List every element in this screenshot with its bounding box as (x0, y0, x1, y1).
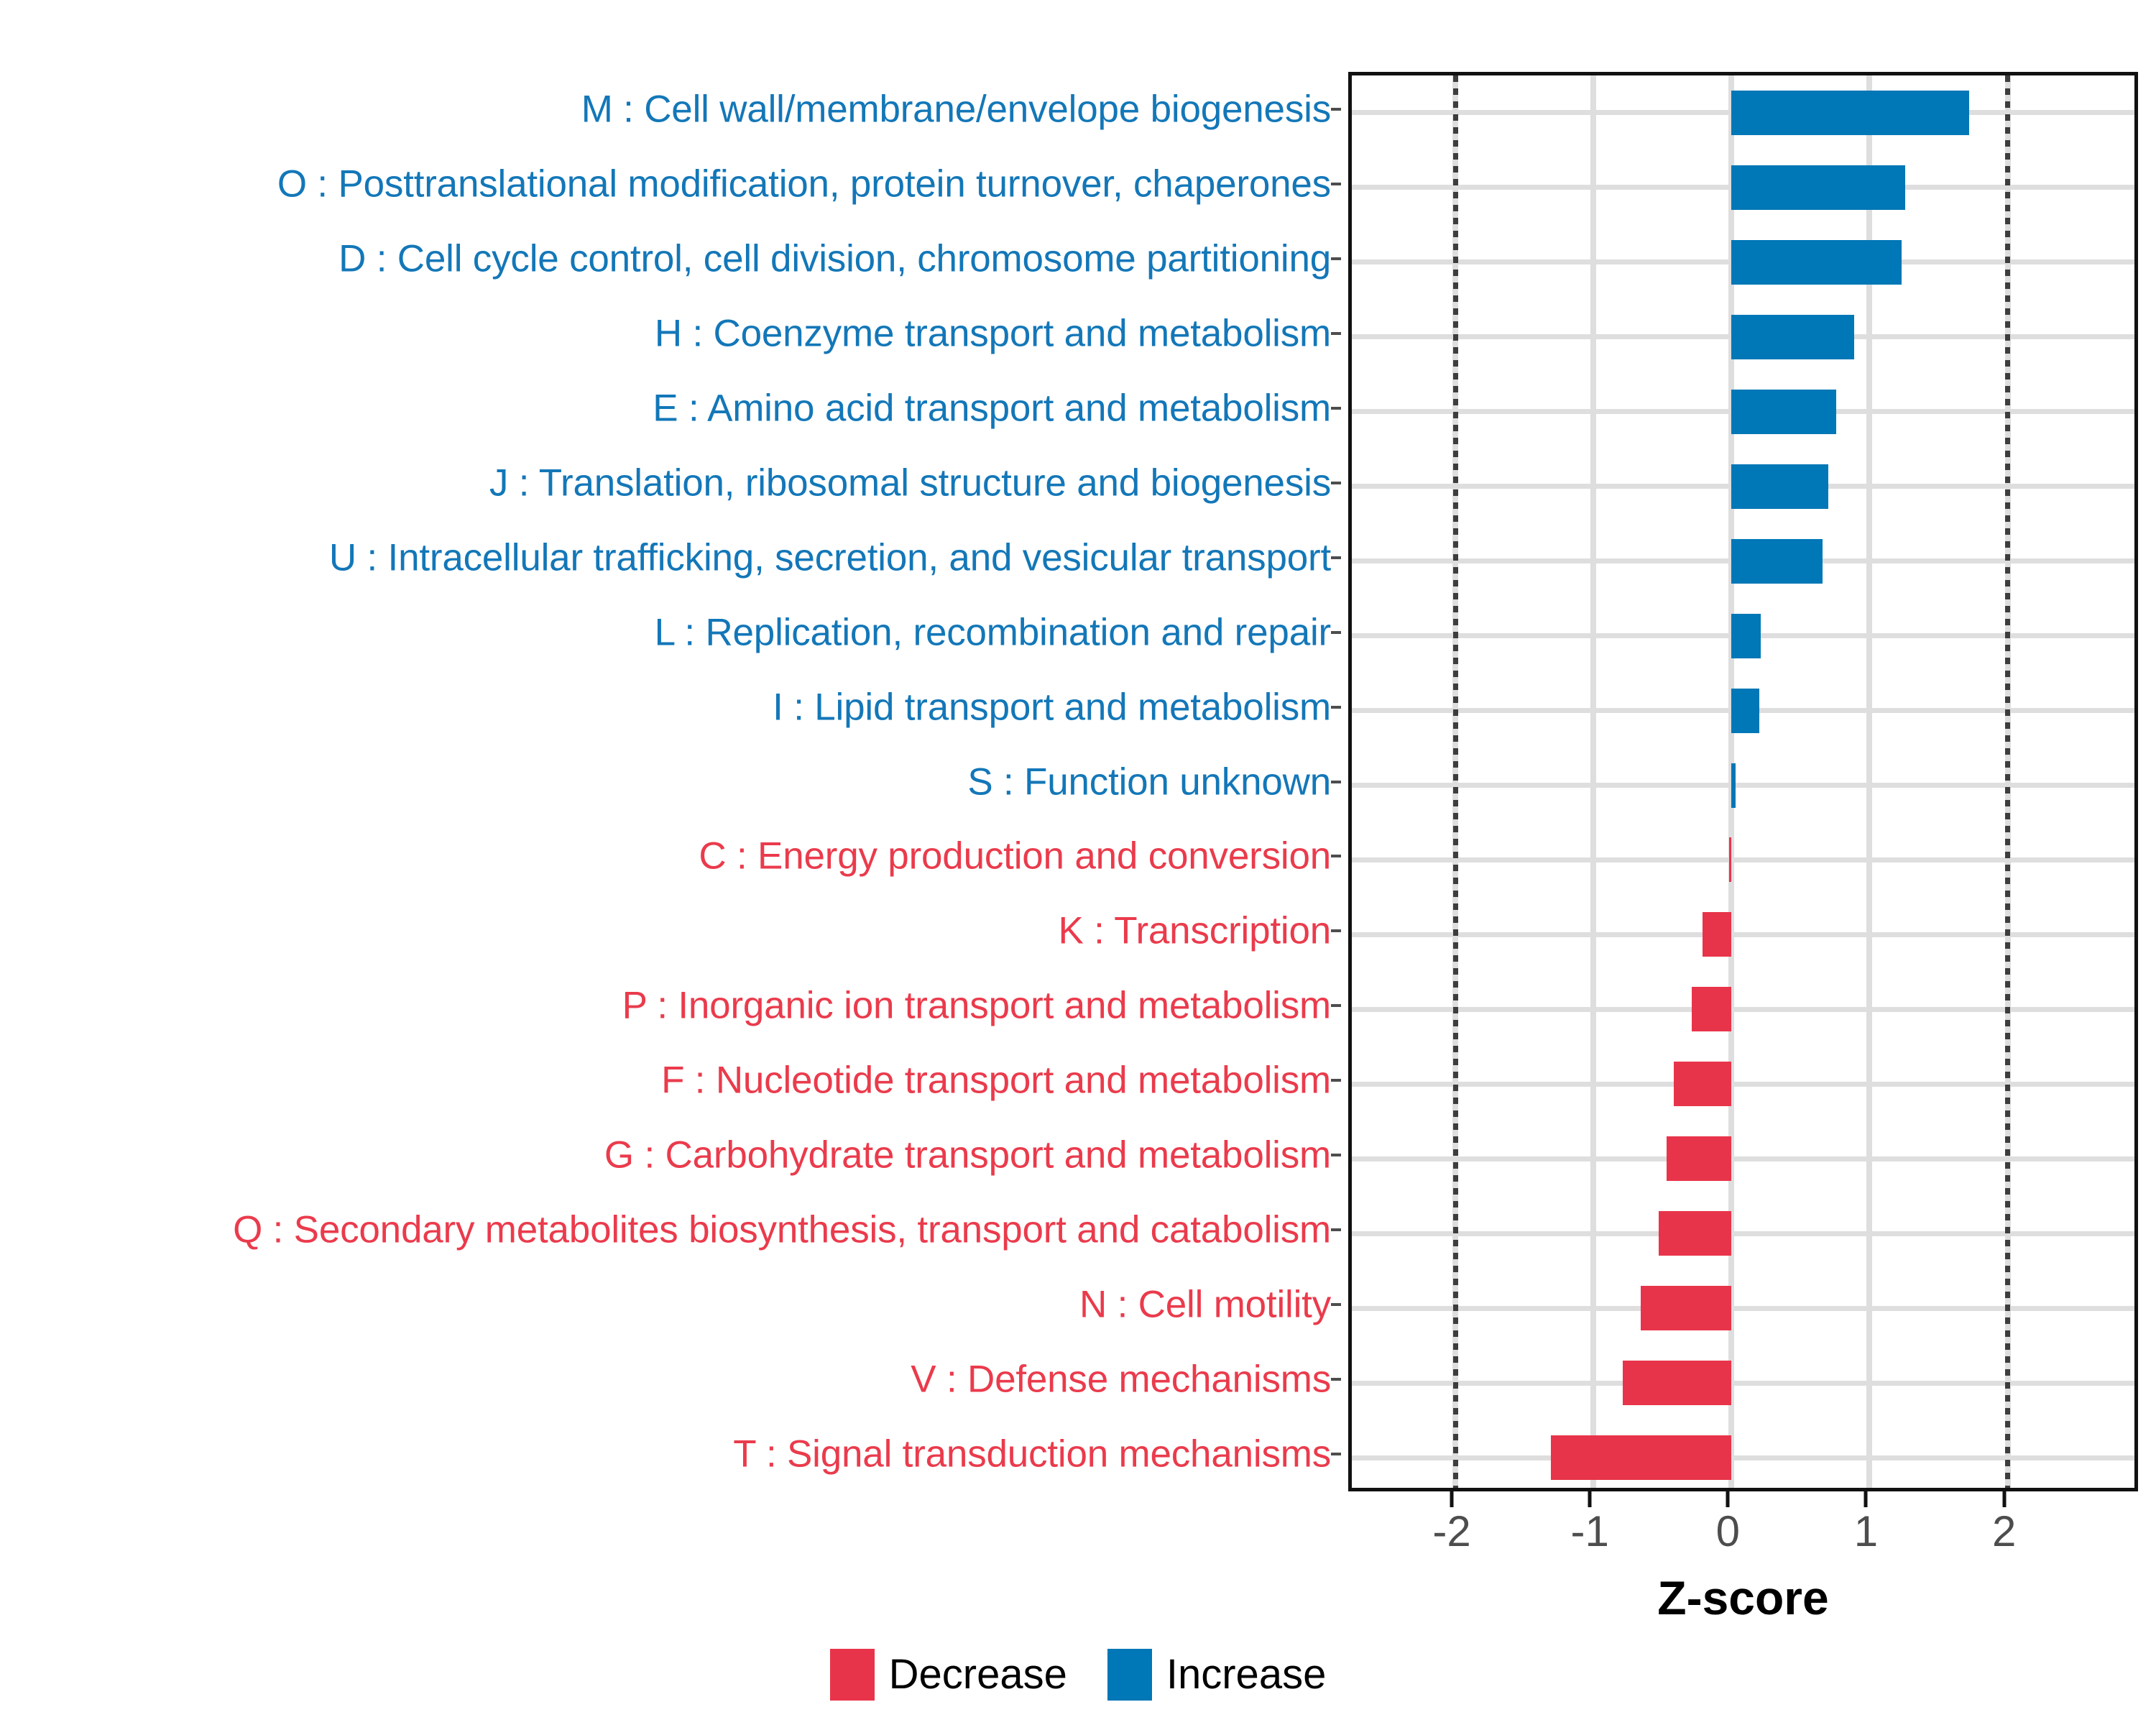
y-axis-tick (1331, 1004, 1341, 1007)
x-axis-tick-label: -2 (1432, 1510, 1470, 1553)
category-label-column: M : Cell wall/membrane/envelope biogenes… (0, 72, 1341, 1491)
horizontal-gridline (1352, 783, 2134, 788)
y-axis-tick (1331, 332, 1341, 335)
category-label: L : Replication, recombination and repai… (655, 613, 1331, 651)
y-axis-tick (1331, 855, 1341, 857)
y-axis-tick (1331, 556, 1341, 559)
horizontal-gridline (1352, 932, 2134, 937)
category-label: S : Function unknown (967, 763, 1331, 801)
bar[interactable] (1623, 1361, 1732, 1405)
y-axis-tick (1331, 929, 1341, 932)
category-label: D : Cell cycle control, cell division, c… (338, 239, 1331, 277)
bar[interactable] (1731, 91, 1968, 135)
y-axis-tick (1331, 257, 1341, 260)
chart-root: M : Cell wall/membrane/envelope biogenes… (0, 0, 2156, 1725)
chart-legend: DecreaseIncrease (0, 1642, 2156, 1707)
bar[interactable] (1674, 1062, 1732, 1106)
y-axis-tick (1331, 706, 1341, 709)
y-axis-tick (1331, 631, 1341, 634)
horizontal-gridline (1352, 1455, 2134, 1460)
category-label: V : Defense mechanisms (911, 1361, 1331, 1399)
y-axis-tick (1331, 1378, 1341, 1381)
category-label: Q : Secondary metabolites biosynthesis, … (233, 1211, 1331, 1249)
category-label: F : Nucleotide transport and metabolism (661, 1062, 1331, 1100)
horizontal-gridline (1352, 1306, 2134, 1311)
bar[interactable] (1551, 1435, 1732, 1480)
bar[interactable] (1731, 539, 1823, 584)
bar[interactable] (1731, 464, 1828, 509)
legend-swatch-icon (830, 1649, 875, 1701)
bar[interactable] (1731, 240, 1901, 285)
bar[interactable] (1703, 912, 1731, 957)
y-axis-tick (1331, 108, 1341, 111)
category-label: C : Energy production and conversion (699, 837, 1331, 875)
horizontal-gridline (1352, 1156, 2134, 1161)
bar[interactable] (1731, 689, 1759, 733)
x-axis-tick-label: -1 (1571, 1510, 1609, 1553)
y-axis-tick (1331, 407, 1341, 410)
x-axis-tick (1588, 1491, 1592, 1507)
y-axis-tick (1331, 781, 1341, 783)
y-axis-tick (1331, 1228, 1341, 1231)
bar[interactable] (1659, 1211, 1732, 1256)
y-axis-tick (1331, 1079, 1341, 1082)
y-axis-tick (1331, 1154, 1341, 1156)
x-axis-tick-label: 0 (1716, 1510, 1740, 1553)
legend-label: Decrease (889, 1654, 1067, 1696)
x-axis-tick-label: 1 (1854, 1510, 1878, 1553)
x-axis-tick (2002, 1491, 2006, 1507)
category-label: T : Signal transduction mechanisms (733, 1435, 1331, 1473)
bar[interactable] (1731, 763, 1736, 808)
category-label: N : Cell motility (1079, 1286, 1331, 1324)
bar[interactable] (1641, 1286, 1732, 1330)
horizontal-gridline (1352, 1231, 2134, 1236)
legend-item[interactable]: Decrease (830, 1649, 1067, 1701)
category-label: P : Inorganic ion transport and metaboli… (622, 987, 1331, 1025)
category-label: U : Intracellular trafficking, secretion… (329, 538, 1331, 576)
bar[interactable] (1729, 837, 1732, 882)
category-label: K : Transcription (1058, 912, 1331, 950)
x-axis-title: Z-score (1348, 1570, 2138, 1625)
x-axis-tick (1450, 1491, 1454, 1507)
category-label: H : Coenzyme transport and metabolism (655, 314, 1331, 352)
bar[interactable] (1731, 390, 1836, 434)
x-axis: -2-1012 (1348, 1491, 2138, 1578)
reference-line (2005, 75, 2010, 1488)
legend-swatch-icon (1107, 1649, 1152, 1701)
reference-line (1453, 75, 1458, 1488)
vertical-gridline (1866, 75, 1872, 1488)
category-label: I : Lipid transport and metabolism (773, 688, 1331, 726)
legend-item[interactable]: Increase (1107, 1649, 1326, 1701)
y-axis-tick (1331, 1453, 1341, 1455)
bar[interactable] (1731, 315, 1854, 359)
horizontal-gridline (1352, 1381, 2134, 1386)
category-label: E : Amino acid transport and metabolism (653, 389, 1331, 427)
bar[interactable] (1731, 614, 1760, 658)
category-label: G : Carbohydrate transport and metabolis… (604, 1136, 1331, 1174)
plot-panel (1348, 72, 2138, 1491)
horizontal-gridline (1352, 1007, 2134, 1012)
category-label: M : Cell wall/membrane/envelope biogenes… (581, 90, 1331, 128)
x-axis-tick (1864, 1491, 1868, 1507)
bar[interactable] (1692, 987, 1732, 1031)
category-label: O : Posttranslational modification, prot… (277, 165, 1331, 203)
vertical-gridline (1590, 75, 1596, 1488)
category-label: J : Translation, ribosomal structure and… (489, 464, 1331, 502)
horizontal-gridline (1352, 857, 2134, 862)
y-axis-tick (1331, 482, 1341, 484)
legend-label: Increase (1166, 1654, 1326, 1696)
x-axis-tick (1726, 1491, 1730, 1507)
y-axis-tick (1331, 1303, 1341, 1306)
x-axis-tick-label: 2 (1992, 1510, 2016, 1553)
y-axis-tick (1331, 183, 1341, 185)
bar[interactable] (1667, 1136, 1731, 1181)
bar[interactable] (1731, 165, 1905, 210)
horizontal-gridline (1352, 1082, 2134, 1087)
